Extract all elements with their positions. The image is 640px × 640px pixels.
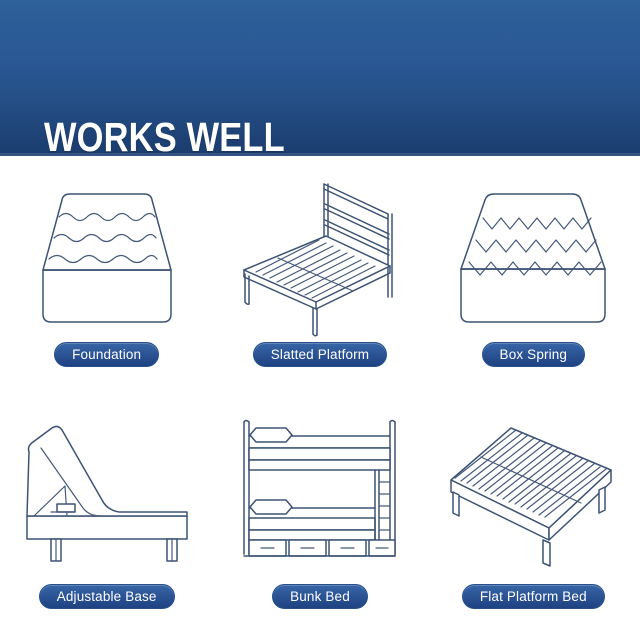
base-label-slatted-platform[interactable]: Slatted Platform: [253, 342, 387, 367]
slatted-platform-bed-icon: [220, 162, 420, 340]
base-card-foundation[interactable]: Foundation: [0, 156, 213, 398]
base-label-flat-platform-bed[interactable]: Flat Platform Bed: [462, 584, 605, 609]
adjustable-base-icon: [7, 404, 207, 582]
base-label-bunk-bed[interactable]: Bunk Bed: [272, 584, 368, 609]
works-well-with-these-bases-graphic: WORKS WELL WITH THESE BASES: [0, 0, 640, 640]
base-label-box-spring[interactable]: Box Spring: [482, 342, 586, 367]
bases-grid: Foundation: [0, 156, 640, 640]
base-card-slatted-platform[interactable]: Slatted Platform: [213, 156, 426, 398]
base-card-adjustable-base[interactable]: Adjustable Base: [0, 398, 213, 640]
box-spring-icon: [433, 162, 633, 340]
base-label-adjustable-base[interactable]: Adjustable Base: [39, 584, 175, 609]
bunk-bed-card[interactable]: Bunk Bed: [213, 398, 426, 640]
base-card-flat-platform-bed[interactable]: Flat Platform Bed: [427, 398, 640, 640]
base-label-foundation[interactable]: Foundation: [54, 342, 159, 367]
bunk-bed-icon: [220, 404, 420, 582]
mattress-foundation-icon: [7, 162, 207, 340]
page-title-line-1: WORKS WELL: [44, 116, 387, 156]
page-title: WORKS WELL WITH THESE BASES: [44, 30, 387, 156]
flat-platform-bed-icon: [433, 404, 633, 582]
header-banner: WORKS WELL WITH THESE BASES: [0, 0, 640, 156]
base-card-box-spring[interactable]: Box Spring: [427, 156, 640, 398]
